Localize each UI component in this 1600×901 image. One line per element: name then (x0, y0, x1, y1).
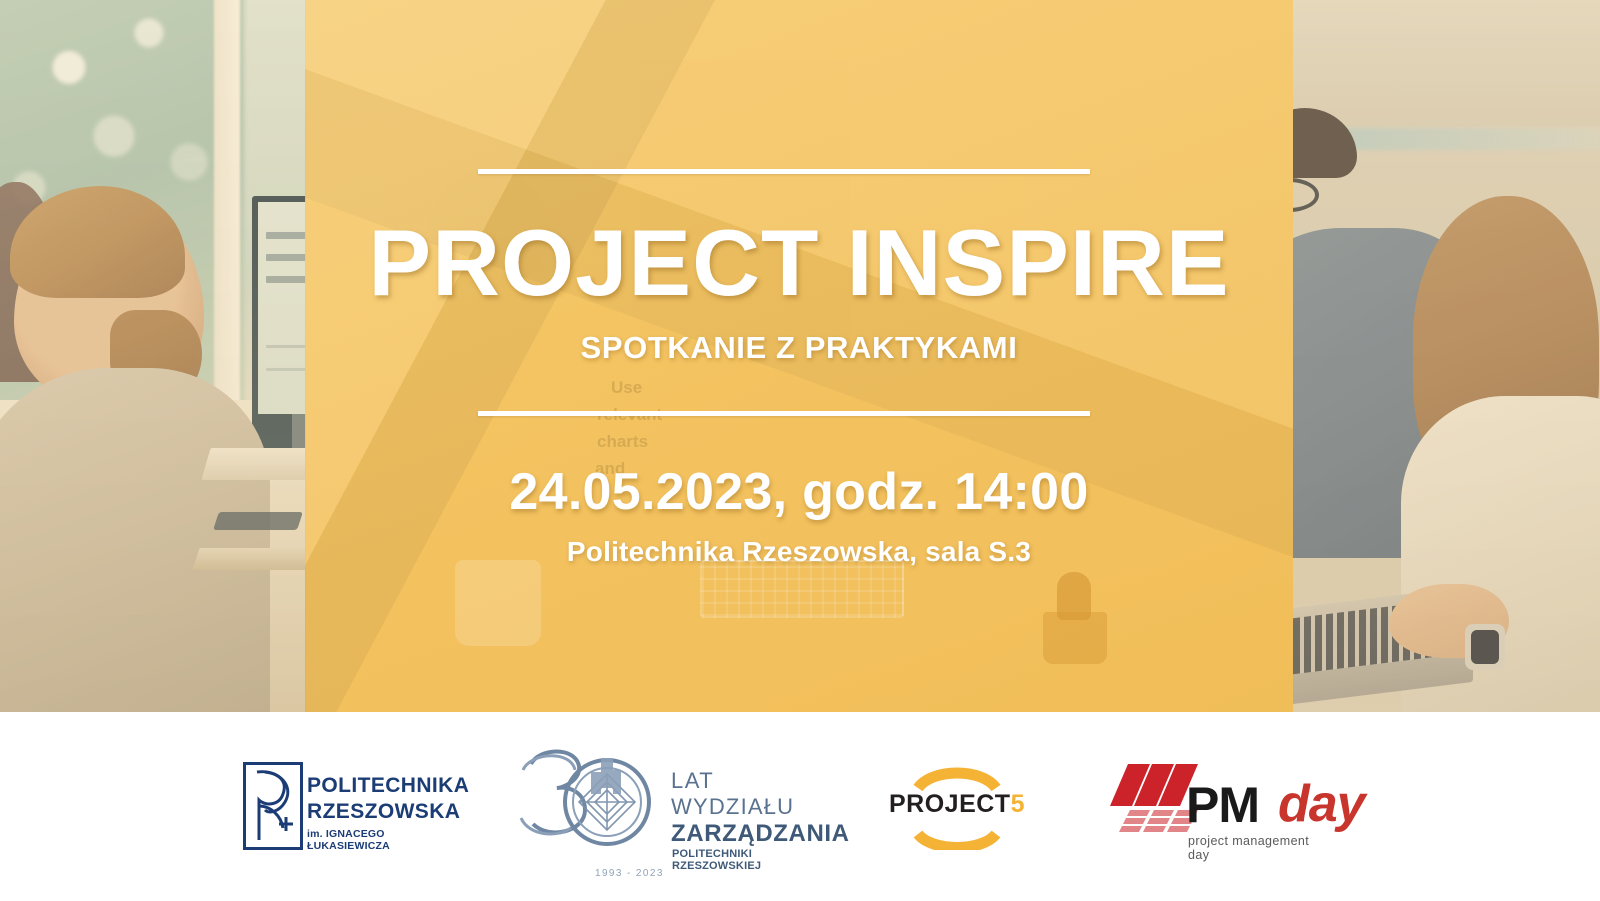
pmday-pm-text: PM (1186, 776, 1259, 834)
project5-word: PROJECT (889, 790, 1011, 818)
anniversary-30-icon (513, 740, 673, 868)
pmday-day-text: day (1278, 774, 1365, 834)
anniversary-line4: POLITECHNIKI RZESZOWSKIEJ (672, 848, 813, 872)
event-poster: Use relevant charts and PROJECT INSPIRE … (0, 0, 1600, 901)
warm-photo-haze (1293, 0, 1600, 712)
page-title: PROJECT INSPIRE (305, 216, 1293, 310)
hero-photo-band: Use relevant charts and PROJECT INSPIRE … (0, 0, 1600, 712)
left-office-photo (0, 0, 306, 712)
logo-footer: POLITECHNIKA RZESZOWSKA im. IGNACEGO ŁUK… (0, 712, 1600, 901)
project5-number: 5 (1011, 790, 1025, 818)
pmday-tagline: project management day (1188, 834, 1332, 862)
project5-wordmark: PROJECT5 (884, 790, 1030, 819)
poster-content: PROJECT INSPIRE SPOTKANIE Z PRAKTYKAMI 2… (305, 0, 1293, 712)
poster-subtitle: SPOTKANIE Z PRAKTYKAMI (305, 330, 1293, 366)
anniversary-line1: LAT (671, 768, 714, 794)
event-date: 24.05.2023, godz. 14:00 (305, 462, 1293, 522)
logo-politechnika-rzeszowska: POLITECHNIKA RZESZOWSKA im. IGNACEGO ŁUK… (243, 756, 433, 852)
divider-bottom (478, 411, 1090, 416)
politechnika-emblem-icon (243, 762, 303, 850)
warm-photo-haze (0, 0, 306, 712)
politechnika-line1: POLITECHNIKA (307, 774, 469, 798)
politechnika-line2: RZESZOWSKA (307, 800, 460, 824)
logo-project5: PROJECT5 (884, 762, 1030, 850)
partner-logo-row: POLITECHNIKA RZESZOWSKA im. IGNACEGO ŁUK… (0, 712, 1600, 901)
logo-30-lat-wydzialu-zarzadzania: LAT WYDZIAŁU ZARZĄDZANIA POLITECHNIKI RZ… (513, 740, 813, 868)
divider-top (478, 169, 1090, 174)
politechnika-line3: im. IGNACEGO ŁUKASIEWICZA (307, 828, 433, 852)
event-venue: Politechnika Rzeszowska, sala S.3 (305, 536, 1293, 568)
logo-pmday: PM day project management day (1110, 758, 1332, 854)
anniversary-years: 1993 - 2023 (595, 868, 664, 879)
right-office-photo (1293, 0, 1600, 712)
anniversary-line3: ZARZĄDZANIA (671, 820, 850, 848)
pr-monogram-icon (243, 762, 303, 850)
anniversary-line2: WYDZIAŁU (671, 794, 794, 820)
